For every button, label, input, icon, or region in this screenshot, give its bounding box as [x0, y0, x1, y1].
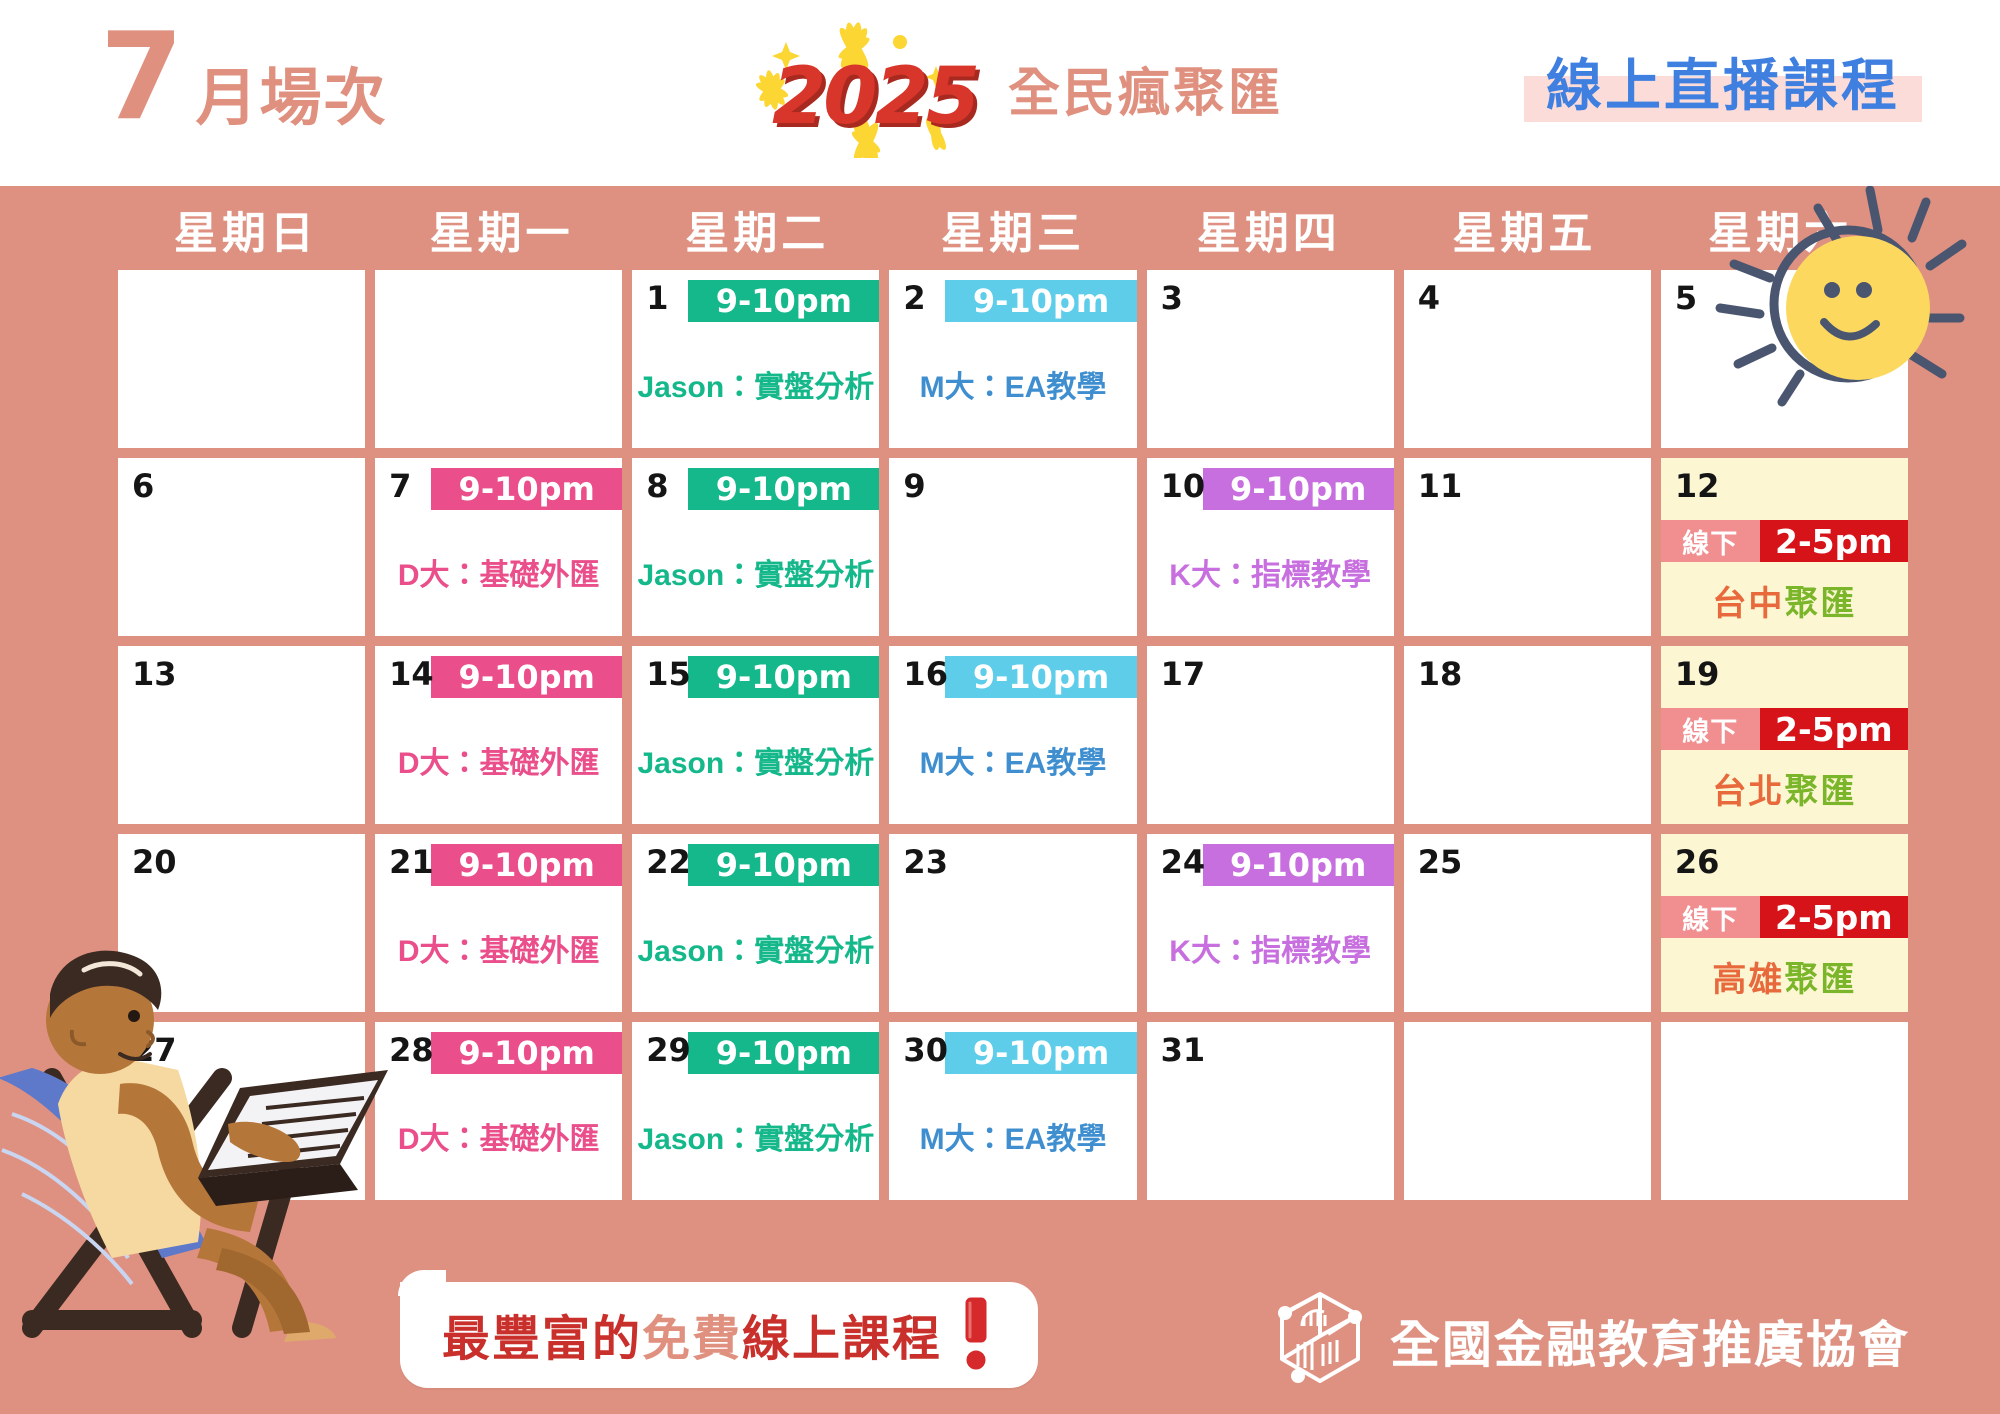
course-title: Jason：實盤分析 — [632, 362, 879, 406]
week-row: 27289-10pmD大：基礎外匯299-10pmJason：實盤分析309-1… — [118, 1022, 1908, 1200]
day-number: 13 — [132, 658, 177, 690]
day-number: 12 — [1675, 470, 1720, 502]
calendar-cell-day-18[interactable]: 18 — [1404, 646, 1651, 824]
offline-time-badge: 2-5pm — [1760, 520, 1908, 562]
day-number: 5 — [1675, 282, 1697, 314]
offline-event-title: 台中聚匯 — [1661, 576, 1908, 625]
calendar-cell-empty — [118, 270, 365, 448]
calendar-cell-day-10[interactable]: 109-10pmK大：指標教學 — [1147, 458, 1394, 636]
weekday-header-row: 星期日星期一星期二星期三星期四星期五星期六 — [118, 210, 1908, 258]
calendar-cell-day-9[interactable]: 9 — [889, 458, 1136, 636]
day-number: 18 — [1418, 658, 1463, 690]
day-number: 19 — [1675, 658, 1720, 690]
calendar-cell-day-26[interactable]: 26線下2-5pm高雄聚匯 — [1661, 834, 1908, 1012]
course-title: M大：EA教學 — [889, 362, 1136, 406]
offline-city: 台北 — [1712, 773, 1784, 811]
month-number: 7 — [100, 18, 182, 138]
time-badge: 9-10pm — [945, 280, 1136, 322]
tagline-bubble: 最豐富的 免費 線上課程 — [400, 1282, 1038, 1388]
calendar-cell-day-13[interactable]: 13 — [118, 646, 365, 824]
association-name: 全國金融教育推廣協會 — [1390, 1305, 1910, 1377]
month-title: 7 月場次 — [100, 18, 388, 138]
poster-header: 7 月場次 — [0, 0, 2000, 186]
calendar-cell-day-23[interactable]: 23 — [889, 834, 1136, 1012]
day-number: 22 — [646, 846, 691, 878]
day-number: 27 — [132, 1034, 177, 1066]
offline-tag: 線下 — [1661, 896, 1760, 938]
day-number: 29 — [646, 1034, 691, 1066]
association-hexagon-icon — [1272, 1286, 1368, 1395]
day-number: 26 — [1675, 846, 1720, 878]
day-number: 30 — [903, 1034, 948, 1066]
course-title: D大：基礎外匯 — [375, 926, 622, 970]
calendar-cell-day-7[interactable]: 79-10pmD大：基礎外匯 — [375, 458, 622, 636]
course-title: Jason：實盤分析 — [632, 738, 879, 782]
weekday-header-1: 星期一 — [374, 210, 630, 258]
day-number: 21 — [389, 846, 434, 878]
weekday-header-3: 星期三 — [885, 210, 1141, 258]
live-badge-label: 線上直播課程 — [1546, 54, 1900, 118]
day-number: 10 — [1161, 470, 1206, 502]
live-course-badge: 線上直播課程 — [1524, 48, 1922, 128]
course-title: M大：EA教學 — [889, 738, 1136, 782]
time-badge: 9-10pm — [688, 468, 879, 510]
offline-bar: 線下2-5pm — [1661, 708, 1908, 750]
day-number: 16 — [903, 658, 948, 690]
calendar-cell-day-4[interactable]: 4 — [1404, 270, 1651, 448]
calendar-cell-day-27[interactable]: 27 — [118, 1022, 365, 1200]
calendar-cell-empty — [375, 270, 622, 448]
calendar-cell-day-30[interactable]: 309-10pmM大：EA教學 — [889, 1022, 1136, 1200]
calendar-cell-day-24[interactable]: 249-10pmK大：指標教學 — [1147, 834, 1394, 1012]
calendar-cell-day-29[interactable]: 299-10pmJason：實盤分析 — [632, 1022, 879, 1200]
course-title: D大：基礎外匯 — [375, 738, 622, 782]
offline-tag: 線下 — [1661, 520, 1760, 562]
calendar-cell-day-3[interactable]: 3 — [1147, 270, 1394, 448]
day-number: 6 — [132, 470, 154, 502]
week-row: 20219-10pmD大：基礎外匯229-10pmJason：實盤分析23249… — [118, 834, 1908, 1012]
time-badge: 9-10pm — [431, 656, 622, 698]
course-title: Jason：實盤分析 — [632, 1114, 879, 1158]
association-logo-block: 全國金融教育推廣協會 — [1272, 1286, 1910, 1395]
weekday-header-5: 星期五 — [1397, 210, 1653, 258]
calendar-cell-day-11[interactable]: 11 — [1404, 458, 1651, 636]
course-title: Jason：實盤分析 — [632, 550, 879, 594]
calendar-cell-day-20[interactable]: 20 — [118, 834, 365, 1012]
year-label: 2025 — [772, 58, 977, 136]
course-title: D大：基礎外匯 — [375, 550, 622, 594]
offline-bar: 線下2-5pm — [1661, 520, 1908, 562]
tagline-part2: 線上課程 — [742, 1299, 942, 1369]
weeks-container: 19-10pmJason：實盤分析29-10pmM大：EA教學345679-10… — [118, 270, 1908, 1200]
event-logo: 2025 全民瘋聚匯 — [750, 18, 1283, 158]
calendar-cell-day-2[interactable]: 29-10pmM大：EA教學 — [889, 270, 1136, 448]
time-badge: 9-10pm — [945, 1032, 1136, 1074]
time-badge: 9-10pm — [1203, 468, 1394, 510]
day-number: 24 — [1161, 846, 1206, 878]
day-number: 11 — [1418, 470, 1463, 502]
calendar-cell-day-16[interactable]: 169-10pmM大：EA教學 — [889, 646, 1136, 824]
course-title: K大：指標教學 — [1147, 550, 1394, 594]
time-badge: 9-10pm — [688, 844, 879, 886]
week-row: 679-10pmD大：基礎外匯89-10pmJason：實盤分析9109-10p… — [118, 458, 1908, 636]
time-badge: 9-10pm — [1203, 844, 1394, 886]
calendar-cell-day-31[interactable]: 31 — [1147, 1022, 1394, 1200]
calendar-cell-day-21[interactable]: 219-10pmD大：基礎外匯 — [375, 834, 622, 1012]
day-number: 7 — [389, 470, 411, 502]
weekday-header-2: 星期二 — [629, 210, 885, 258]
tagline-highlight: 免費 — [642, 1299, 742, 1369]
calendar-grid: 星期日星期一星期二星期三星期四星期五星期六 19-10pmJason：實盤分析2… — [118, 210, 1908, 1210]
day-number: 1 — [646, 282, 668, 314]
offline-meet-label: 聚匯 — [1784, 585, 1856, 623]
calendar-cell-day-19[interactable]: 19線下2-5pm台北聚匯 — [1661, 646, 1908, 824]
weekday-header-0: 星期日 — [118, 210, 374, 258]
calendar-cell-day-15[interactable]: 159-10pmJason：實盤分析 — [632, 646, 879, 824]
offline-tag: 線下 — [1661, 708, 1760, 750]
time-badge: 9-10pm — [431, 1032, 622, 1074]
course-title: K大：指標教學 — [1147, 926, 1394, 970]
weekday-header-6: 星期六 — [1652, 210, 1908, 258]
time-badge: 9-10pm — [688, 1032, 879, 1074]
poster-footer: 最豐富的 免費 線上課程 — [0, 1264, 2000, 1414]
week-row: 13149-10pmD大：基礎外匯159-10pmJason：實盤分析169-1… — [118, 646, 1908, 824]
calendar-cell-day-25[interactable]: 25 — [1404, 834, 1651, 1012]
day-number: 2 — [903, 282, 925, 314]
day-number: 31 — [1161, 1034, 1206, 1066]
brand-label: 全民瘋聚匯 — [1008, 51, 1283, 126]
calendar-cell-day-6[interactable]: 6 — [118, 458, 365, 636]
calendar-cell-day-22[interactable]: 229-10pmJason：實盤分析 — [632, 834, 879, 1012]
month-suffix-label: 月場次 — [196, 68, 388, 130]
calendar-cell-day-8[interactable]: 89-10pmJason：實盤分析 — [632, 458, 879, 636]
offline-city: 高雄 — [1712, 961, 1784, 999]
course-title: M大：EA教學 — [889, 1114, 1136, 1158]
course-title: D大：基礎外匯 — [375, 1114, 622, 1158]
calendar-poster: 7 月場次 — [0, 0, 2000, 1414]
time-badge: 9-10pm — [431, 844, 622, 886]
calendar-cell-empty — [1661, 1022, 1908, 1200]
offline-meet-label: 聚匯 — [1784, 773, 1856, 811]
day-number: 9 — [903, 470, 925, 502]
time-badge: 9-10pm — [688, 656, 879, 698]
day-number: 8 — [646, 470, 668, 502]
offline-city: 台中 — [1712, 585, 1784, 623]
day-number: 23 — [903, 846, 948, 878]
tagline-part1: 最豐富的 — [442, 1299, 642, 1369]
day-number: 20 — [132, 846, 177, 878]
day-number: 25 — [1418, 846, 1463, 878]
time-badge: 9-10pm — [945, 656, 1136, 698]
offline-meet-label: 聚匯 — [1784, 961, 1856, 999]
day-number: 28 — [389, 1034, 434, 1066]
offline-bar: 線下2-5pm — [1661, 896, 1908, 938]
time-badge: 9-10pm — [688, 280, 879, 322]
offline-time-badge: 2-5pm — [1760, 896, 1908, 938]
offline-event-title: 高雄聚匯 — [1661, 952, 1908, 1001]
calendar-cell-day-1[interactable]: 19-10pmJason：實盤分析 — [632, 270, 879, 448]
calendar-cell-empty — [1404, 1022, 1651, 1200]
offline-event-title: 台北聚匯 — [1661, 764, 1908, 813]
day-number: 14 — [389, 658, 434, 690]
day-number: 15 — [646, 658, 691, 690]
day-number: 17 — [1161, 658, 1206, 690]
exclamation-icon — [958, 1296, 996, 1372]
day-number: 3 — [1161, 282, 1183, 314]
week-row: 19-10pmJason：實盤分析29-10pmM大：EA教學345 — [118, 270, 1908, 448]
calendar-cell-day-14[interactable]: 149-10pmD大：基礎外匯 — [375, 646, 622, 824]
day-number: 4 — [1418, 282, 1440, 314]
calendar-cell-day-28[interactable]: 289-10pmD大：基礎外匯 — [375, 1022, 622, 1200]
time-badge: 9-10pm — [431, 468, 622, 510]
weekday-header-4: 星期四 — [1141, 210, 1397, 258]
course-title: Jason：實盤分析 — [632, 926, 879, 970]
calendar-cell-day-12[interactable]: 12線下2-5pm台中聚匯 — [1661, 458, 1908, 636]
calendar-cell-day-17[interactable]: 17 — [1147, 646, 1394, 824]
calendar-cell-day-5[interactable]: 5 — [1661, 270, 1908, 448]
offline-time-badge: 2-5pm — [1760, 708, 1908, 750]
